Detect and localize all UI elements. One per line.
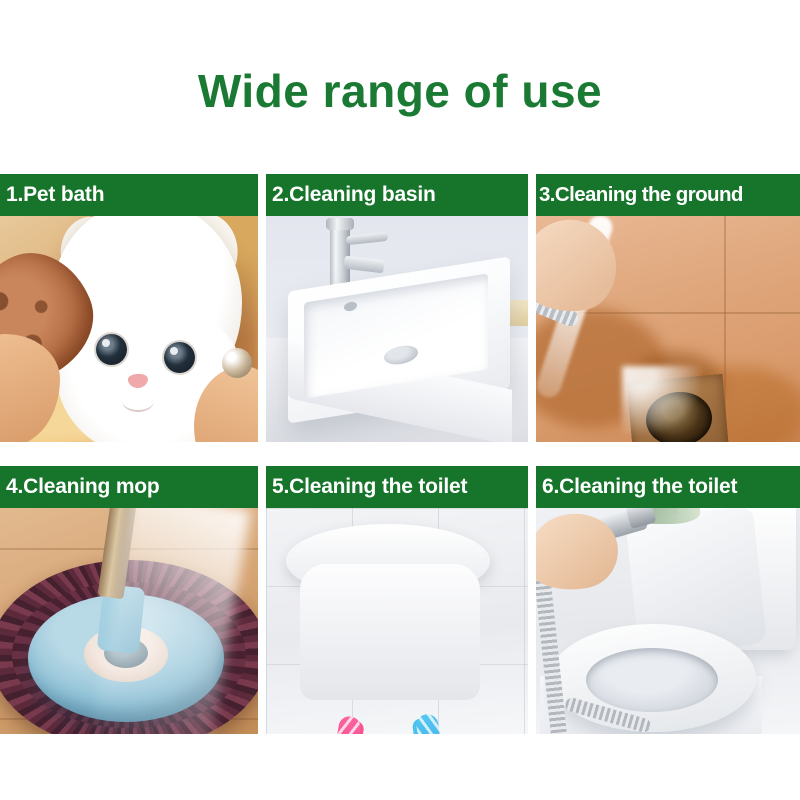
use-case-image-6	[536, 508, 800, 734]
promo-banner: Wide range of use 1.Pet bath	[0, 0, 800, 800]
row-spacer	[0, 442, 800, 466]
cat-eye-right-icon	[164, 342, 195, 373]
use-case-image-4	[0, 508, 258, 734]
faucet-cap-icon	[326, 218, 354, 230]
use-case-cell-6[interactable]: 6.Cleaning the toilet	[536, 466, 800, 734]
cat-mouth-icon	[122, 390, 154, 412]
use-case-grid: 1.Pet bath 2.Cleaning basin	[0, 174, 800, 734]
use-case-label-6: 6.Cleaning the toilet	[536, 466, 800, 508]
use-case-cell-1[interactable]: 1.Pet bath	[0, 174, 258, 442]
bauble-icon	[222, 348, 252, 378]
toilet-body-icon	[300, 564, 480, 700]
use-case-cell-2[interactable]: 2.Cleaning basin	[266, 174, 528, 442]
use-case-cell-4[interactable]: 4.Cleaning mop	[0, 466, 258, 734]
use-case-image-5	[266, 508, 528, 734]
use-case-image-3	[536, 216, 800, 442]
use-case-label-1: 1.Pet bath	[0, 174, 258, 216]
use-case-image-2	[266, 216, 528, 442]
page-title: Wide range of use	[0, 66, 800, 116]
use-case-cell-3[interactable]: 3.Cleaning the ground	[536, 174, 800, 442]
cat-eye-left-icon	[96, 334, 127, 365]
toilet-seat-opening	[586, 648, 718, 712]
use-case-label-4: 4.Cleaning mop	[0, 466, 258, 508]
use-case-label-5: 5.Cleaning the toilet	[266, 466, 528, 508]
use-case-label-2: 2.Cleaning basin	[266, 174, 528, 216]
water-spray-fan	[622, 366, 702, 436]
use-case-cell-5[interactable]: 5.Cleaning the toilet	[266, 466, 528, 734]
use-case-image-1	[0, 216, 258, 442]
use-case-label-3: 3.Cleaning the ground	[536, 174, 800, 216]
